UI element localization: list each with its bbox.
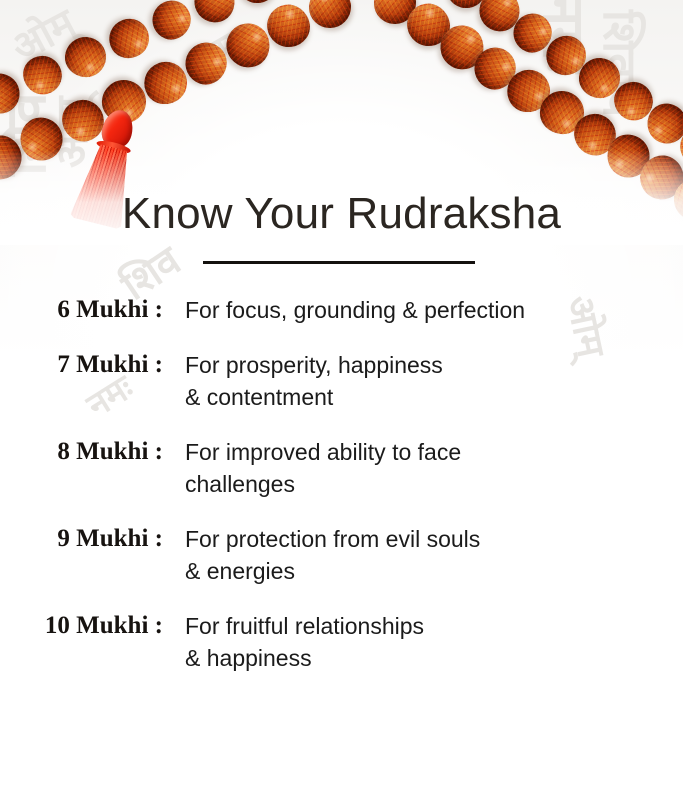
mukhi-description-line: & energies xyxy=(185,555,683,587)
mukhi-label: 9 Mukhi : xyxy=(0,523,163,555)
mukhi-description: For focus, grounding & perfection xyxy=(163,294,683,326)
mukhi-list: 6 Mukhi :For focus, grounding & perfecti… xyxy=(0,294,683,697)
page-title: Know Your Rudraksha xyxy=(0,189,683,239)
mukhi-description: For protection from evil souls& energies xyxy=(163,523,683,587)
mukhi-description-line: For prosperity, happiness xyxy=(185,349,683,381)
mukhi-row: 7 Mukhi :For prosperity, happiness& cont… xyxy=(0,349,683,413)
mukhi-description-line: For improved ability to face xyxy=(185,436,683,468)
mukhi-label: 6 Mukhi : xyxy=(0,294,163,326)
mukhi-description: For prosperity, happiness& contentment xyxy=(163,349,683,413)
mukhi-label: 10 Mukhi : xyxy=(0,610,163,642)
mukhi-description-line: challenges xyxy=(185,468,683,500)
mukhi-description-line: For protection from evil souls xyxy=(185,523,683,555)
mukhi-label: 8 Mukhi : xyxy=(0,436,163,468)
mukhi-description: For fruitful relationships& happiness xyxy=(163,610,683,674)
mukhi-description: For improved ability to facechallenges xyxy=(163,436,683,500)
mukhi-row: 8 Mukhi :For improved ability to facecha… xyxy=(0,436,683,500)
mukhi-description-line: & contentment xyxy=(185,381,683,413)
mukhi-row: 6 Mukhi :For focus, grounding & perfecti… xyxy=(0,294,683,326)
title-divider xyxy=(203,261,475,264)
mukhi-description-line: & happiness xyxy=(185,642,683,674)
mukhi-label: 7 Mukhi : xyxy=(0,349,163,381)
mukhi-row: 9 Mukhi :For protection from evil souls&… xyxy=(0,523,683,587)
rudraksha-infographic-poster: शिव ओम् नमः शिवाय ओम् नमः शिव ओम् नमः Kn… xyxy=(0,0,683,800)
mukhi-description-line: For focus, grounding & perfection xyxy=(185,294,683,326)
mukhi-row: 10 Mukhi :For fruitful relationships& ha… xyxy=(0,610,683,674)
mukhi-description-line: For fruitful relationships xyxy=(185,610,683,642)
